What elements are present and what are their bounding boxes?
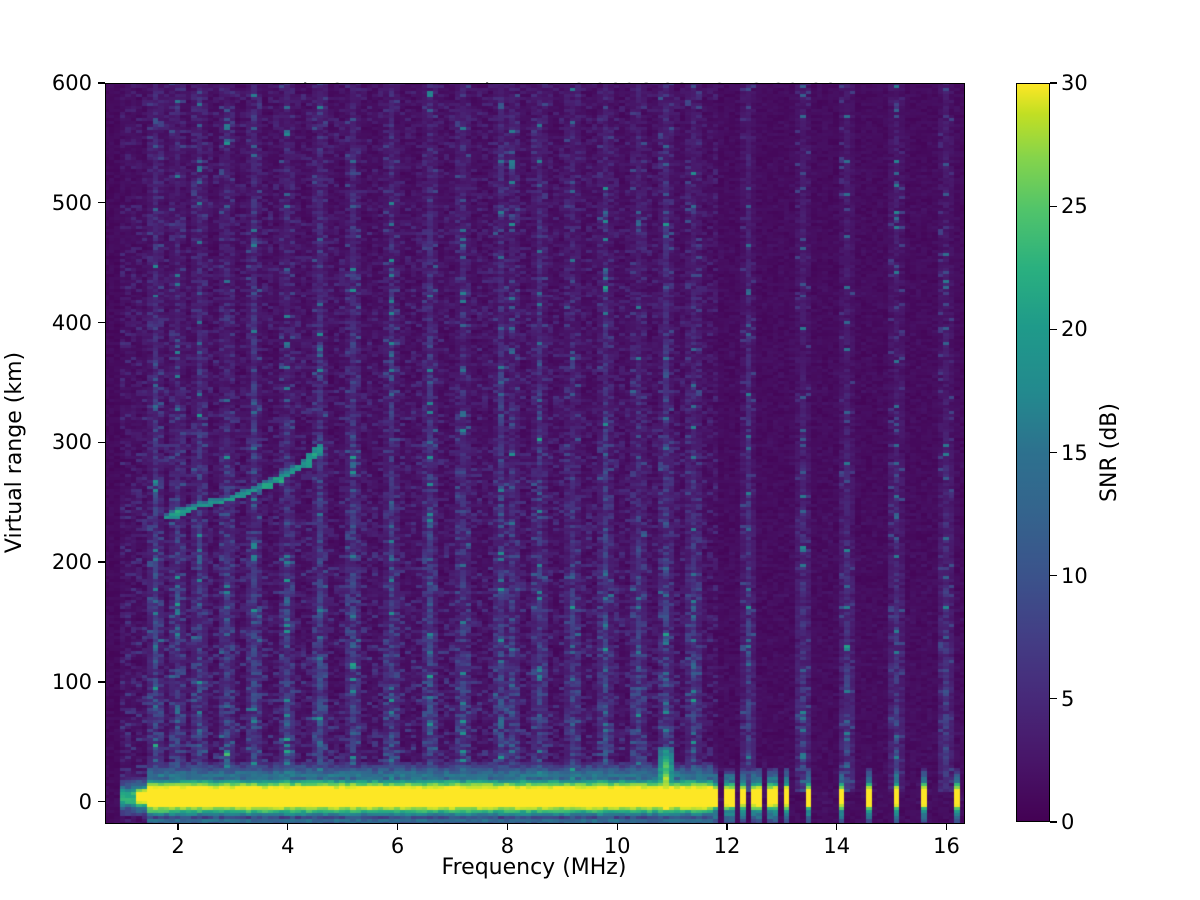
x-tick-label: 12	[687, 836, 767, 857]
x-tick-mark	[836, 823, 837, 830]
y-tick-label: 400	[52, 313, 92, 334]
ionogram-figure: IRF Uppsala SDR Ionosonde UP158 2026-03-…	[0, 0, 1200, 900]
y-tick-mark	[98, 82, 105, 83]
colorbar-tick-mark	[1050, 452, 1057, 453]
y-tick-mark	[98, 442, 105, 443]
colorbar-tick-label: 30	[1061, 73, 1088, 94]
colorbar-tick-mark	[1050, 206, 1057, 207]
ionogram-plot-area[interactable]	[105, 83, 965, 824]
colorbar-tick-label: 15	[1061, 443, 1088, 464]
x-tick-mark	[287, 823, 288, 830]
x-axis-label-text: Frequency (MHz)	[442, 855, 627, 880]
x-tick-label: 10	[577, 836, 657, 857]
y-tick-mark	[98, 801, 105, 802]
colorbar-tick-label: 25	[1061, 196, 1088, 217]
y-tick-mark	[98, 202, 105, 203]
y-tick-label: 200	[52, 552, 92, 573]
colorbar-tick-mark	[1050, 698, 1057, 699]
x-tick-label: 2	[138, 836, 218, 857]
y-axis-label-text: Virtual range (km)	[3, 352, 28, 553]
x-tick-mark	[507, 823, 508, 830]
colorbar-tick-label: 20	[1061, 319, 1088, 340]
colorbar-gradient	[1016, 83, 1050, 822]
colorbar-tick-label: 10	[1061, 566, 1088, 587]
ionogram-heatmap-canvas	[106, 84, 964, 823]
y-tick-label: 600	[52, 73, 92, 94]
colorbar-tick-mark	[1050, 575, 1057, 576]
y-axis-label: Virtual range (km)	[0, 83, 30, 822]
x-tick-mark	[726, 823, 727, 830]
x-tick-label: 8	[467, 836, 547, 857]
x-tick-label: 4	[248, 836, 328, 857]
y-tick-mark	[98, 322, 105, 323]
colorbar-tick-mark	[1050, 821, 1057, 822]
x-axis-label: Frequency (MHz)	[105, 855, 963, 880]
colorbar-tick-label: 5	[1061, 689, 1074, 710]
colorbar-label-text: SNR (dB)	[1097, 403, 1122, 502]
x-tick-mark	[397, 823, 398, 830]
colorbar-tick-label: 0	[1061, 812, 1074, 833]
x-tick-mark	[946, 823, 947, 830]
x-tick-label: 14	[797, 836, 877, 857]
colorbar[interactable]: 051015202530	[1016, 83, 1050, 822]
x-tick-label: 16	[907, 836, 987, 857]
colorbar-tick-mark	[1050, 82, 1057, 83]
colorbar-label: SNR (dB)	[1095, 83, 1123, 822]
y-tick-label: 300	[52, 432, 92, 453]
y-tick-label: 100	[52, 672, 92, 693]
y-tick-mark	[98, 561, 105, 562]
colorbar-tick-mark	[1050, 329, 1057, 330]
x-tick-mark	[177, 823, 178, 830]
y-tick-label: 500	[52, 193, 92, 214]
y-tick-mark	[98, 681, 105, 682]
x-tick-label: 6	[358, 836, 438, 857]
x-tick-mark	[617, 823, 618, 830]
y-tick-label: 0	[79, 792, 92, 813]
